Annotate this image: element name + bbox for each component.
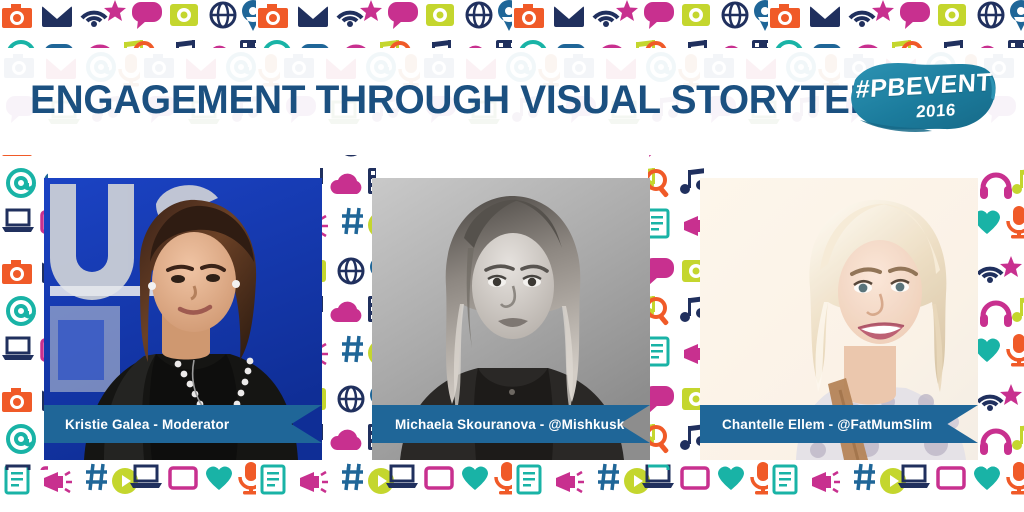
speaker-ribbon [700,405,978,443]
speaker-card[interactable]: Chantelle Ellem - @FatMumSlim [700,178,978,460]
speaker-card[interactable]: Michaela Skouranova - @Mishkusk [372,178,650,460]
speaker-card-row: Kristie Galea - Moderator [0,178,1024,460]
hashtag-badge: #PBEVENT 2016 [848,58,1000,136]
page-title: ENGAGEMENT THROUGH VISUAL STORYTELLING [30,72,806,128]
speaker-ribbon [372,405,650,443]
speaker-ribbon [44,405,322,443]
speaker-banner: ENGAGEMENT THROUGH VISUAL STORYTELLING #… [0,0,1024,512]
speaker-card[interactable]: Kristie Galea - Moderator [44,178,322,460]
